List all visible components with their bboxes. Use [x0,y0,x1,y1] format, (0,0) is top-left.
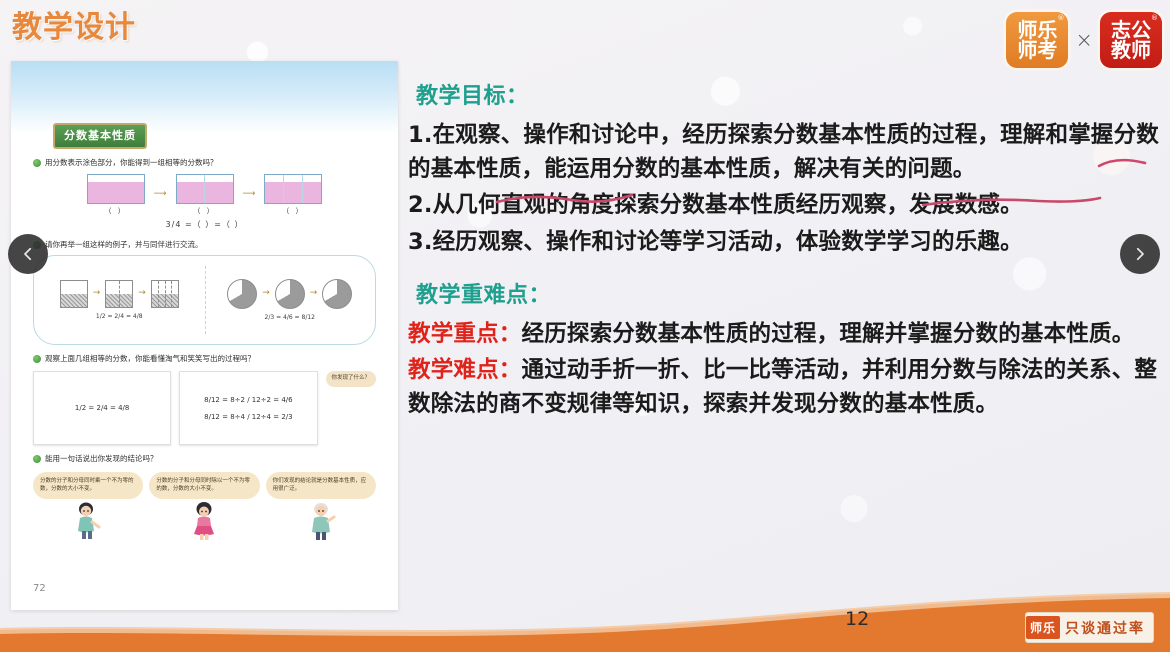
logo-left-line1: 师乐 [1017,20,1057,40]
teaching-goals-section: 教学目标： 1.在观察、操作和讨论中，经历探索分数基本性质的过程，理解和掌握分数… [408,78,1164,259]
character-1: 分数的分子和分母同时乘一个不为零的数，分数的大小不变。 [33,472,143,541]
pie-model [275,279,305,309]
page-title: 教学设计 [12,2,136,46]
bullet-dot-icon [33,455,41,463]
teaching-goals-heading: 教学目标： [416,78,1164,110]
arrow-right-icon: → [93,287,101,300]
logo-shile-shikao: ® 师乐 师考 [1006,12,1068,68]
teaching-difficulty-label: 教学难点： [408,357,522,383]
slide-canvas: 教学设计 ® 师乐 师考 × ® 志公 教师 分数基本性质 用分数表示涂色部分，… [0,0,1170,652]
bullet-dot-icon [33,159,41,167]
fraction-bar [264,174,322,204]
pie-model [227,279,257,309]
chevron-left-icon [19,245,37,263]
textbook-example-box: → → 1/2 = 2/4 = 4/8 → → 2/3 [33,255,376,345]
paper-left: 1/2 = 2/4 = 4/8 [33,371,171,445]
textbook-question-3: 观察上面几组相等的分数，你能看懂淘气和笑笑写出的过程吗？ [33,354,382,365]
paper-right-equation-2: 8/12 = 8÷4 / 12÷4 = 2/3 [204,412,292,422]
student-boy-icon [71,501,105,541]
paper-right-equation-1: 8/12 = 8÷2 / 12÷2 = 4/6 [204,395,292,405]
paper-left-equation: 1/2 = 2/4 = 4/8 [75,403,129,413]
fraction-bar [87,174,145,204]
speech-bubble-2: 分数的分子和分母同时除以一个不为零的数，分数的大小不变。 [149,472,259,499]
paper-right: 8/12 = 8÷2 / 12÷2 = 4/6 8/12 = 8÷4 / 12÷… [179,371,317,445]
textbook-question-2-text: 请你再举一组这样的例子，并与同伴进行交流。 [45,240,203,251]
logo-left-line2: 师考 [1017,40,1057,60]
speech-bubble-3: 你们发现的结论就是分数基本性质，应用很广泛。 [266,472,376,499]
logo-separator-icon: × [1075,28,1093,52]
watermark-text: 只谈通过率 [1065,618,1145,638]
textbook-question-4-text: 能用一句话说出你发现的结论吗？ [45,454,158,465]
teaching-goal-item-3: 3.经历观察、操作和讨论等学习活动，体验数学学习的乐趣。 [408,225,1164,259]
arrow-right-icon: → [310,287,318,300]
footer-decoration [0,592,1170,652]
textbook-question-1: 用分数表示涂色部分，你能得到一组相等的分数吗？ [33,158,382,169]
example-divider [205,266,206,334]
teaching-difficulty-line: 教学难点：通过动手折一折、比一比等活动，并利用分数与除法的关系、整数除法的商不变… [408,353,1164,421]
bar-caption: （ ） [264,206,322,216]
textbook-content: 分数基本性质 用分数表示涂色部分，你能得到一组相等的分数吗？ （ ） ⟶ [11,61,398,610]
textbook-characters-row: 分数的分子和分母同时乘一个不为零的数，分数的大小不变。 分数的分子和分母同时除以… [33,472,376,541]
arrow-right-icon: ⟶ [154,188,167,201]
footer-watermark: 师乐 只谈通过率 [1025,612,1154,643]
pie-model [322,279,352,309]
example-left: → → 1/2 = 2/4 = 4/8 [34,280,205,322]
logo-zhigong-jiaoshi: ® 志公 教师 [1100,12,1162,68]
teaching-focus-text: 经历探索分数基本性质的过程，理解并掌握分数的基本性质。 [522,321,1135,347]
example-left-equation: 1/2 = 2/4 = 4/8 [96,313,143,322]
registered-mark: ® [1057,15,1064,22]
textbook-paper-row: 1/2 = 2/4 = 4/8 8/12 = 8÷2 / 12÷2 = 4/6 … [33,371,376,445]
square-model [105,280,133,308]
fraction-bar-unit: （ ） [87,174,145,216]
watermark-tag: 师乐 [1026,616,1060,639]
teaching-focus-line: 教学重点：经历探索分数基本性质的过程，理解并掌握分数的基本性质。 [408,317,1164,351]
textbook-equation-1: 3/4 =（ ）=（ ） [27,219,382,231]
example-right: → → 2/3 = 4/6 = 8/12 [205,279,376,323]
fraction-bar-unit: （ ） [264,174,322,216]
character-2: 分数的分子和分母同时除以一个不为零的数，分数的大小不变。 [149,472,259,541]
textbook-question-2: 请你再举一组这样的例子，并与同伴进行交流。 [33,240,382,251]
bullet-dot-icon [33,355,41,363]
bar-caption: （ ） [176,206,234,216]
speech-bubble-1: 分数的分子和分母同时乘一个不为零的数，分数的大小不变。 [33,472,143,499]
teacher-icon [304,501,338,541]
logo-right-line1: 志公 [1111,20,1151,40]
lesson-plan-content: 教学目标： 1.在观察、操作和讨论中，经历探索分数基本性质的过程，理解和掌握分数… [408,78,1164,423]
student-girl-icon [187,501,221,541]
teaching-goal-item-2: 2.从几何直观的角度探索分数基本性质经历观察，发展数感。 [408,188,1164,222]
textbook-question-3-text: 观察上面几组相等的分数，你能看懂淘气和笑笑写出的过程吗？ [45,354,255,365]
logo-right-line2: 教师 [1111,40,1151,60]
square-model [60,280,88,308]
fraction-bar-unit: （ ） [176,174,234,216]
fraction-bar-row: （ ） ⟶ （ ） ⟶ [27,174,382,216]
textbook-question-1-text: 用分数表示涂色部分，你能得到一组相等的分数吗？ [45,158,218,169]
bar-caption: （ ） [87,206,145,216]
teaching-keypoints-heading: 教学重难点： [416,277,1164,309]
textbook-chapter-label: 分数基本性质 [53,123,147,149]
arrow-right-icon: → [138,287,146,300]
arrow-right-icon: ⟶ [243,188,256,201]
teaching-focus-label: 教学重点： [408,321,522,347]
teaching-goal-item-1: 1.在观察、操作和讨论中，经历探索分数基本性质的过程，理解和掌握分数的基本性质，… [408,118,1164,186]
thought-bubble: 你发现了什么？ [326,371,377,386]
registered-mark: ® [1151,15,1158,22]
character-3: 你们发现的结论就是分数基本性质，应用很广泛。 [266,472,376,541]
footer-curve-shape [0,592,1170,652]
square-model [151,280,179,308]
slide-page-number: 12 [845,608,869,630]
textbook-page-image: 分数基本性质 用分数表示涂色部分，你能得到一组相等的分数吗？ （ ） ⟶ [11,61,398,610]
teaching-keypoints-section: 教学重难点： 教学重点：经历探索分数基本性质的过程，理解并掌握分数的基本性质。 … [408,277,1164,422]
textbook-question-4: 能用一句话说出你发现的结论吗？ [33,454,382,465]
arrow-right-icon: → [262,287,270,300]
brand-logo-group: ® 师乐 师考 × ® 志公 教师 [1006,12,1162,68]
fraction-bar [176,174,234,204]
prev-slide-button[interactable] [8,234,48,274]
example-right-equation: 2/3 = 4/6 = 8/12 [265,314,315,323]
